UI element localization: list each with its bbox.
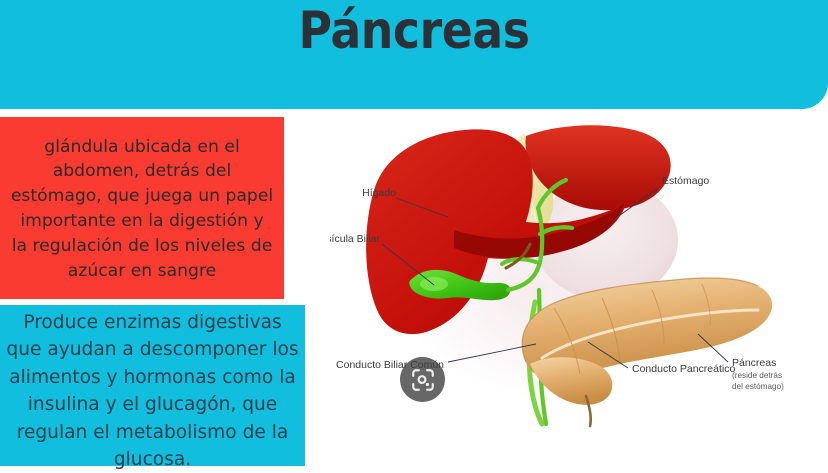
label-estomago: Estómago [662,175,709,187]
label-conducto-pancreatico: Conducto Pancreático [632,363,735,375]
label-pancreas-sub1: (reside detrás [732,371,782,380]
label-vesicula-biliar: Vesícula Biliar [330,233,380,245]
red-card-text: glándula ubicada en el abdomen, detrás d… [10,135,274,284]
google-lens-icon [410,367,436,393]
label-pancreas: Páncreas [732,357,776,369]
cyan-text-card: Produce enzimas digestivas que ayudan a … [0,305,305,466]
label-higado: Hígado [362,187,396,199]
red-text-card: glándula ubicada en el abdomen, detrás d… [0,117,284,299]
gallbladder-highlight [420,277,448,291]
page-title: Páncreas [50,0,779,62]
label-pancreas-sub2: del estómago) [732,382,784,391]
google-lens-button[interactable] [400,357,445,402]
header-banner: Páncreas [0,0,828,109]
cyan-card-text: Produce enzimas digestivas que ayudan a … [4,309,301,473]
